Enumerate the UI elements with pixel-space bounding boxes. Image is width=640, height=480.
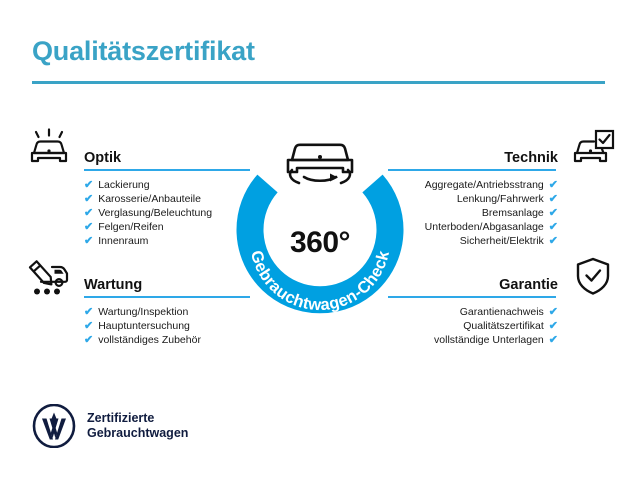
list-item-label: Lenkung/Fahrwerk — [457, 192, 544, 206]
list-item: ✔vollständiges Zubehör — [84, 333, 252, 347]
list-item-label: Aggregate/Antriebsstrang — [425, 178, 544, 192]
list-item-label: Lackierung — [98, 178, 149, 192]
section-optik: Optik ✔Lackierung ✔Karosserie/Anbauteile… — [22, 128, 252, 255]
section-garantie-header: Garantie — [388, 255, 618, 295]
list-item-label: vollständiges Zubehör — [98, 333, 201, 347]
section-technik-header: Technik — [388, 128, 618, 168]
car-service-pen-icon — [26, 255, 72, 297]
check-icon: ✔ — [84, 236, 93, 247]
list-item-label: Sicherheit/Elektrik — [460, 234, 544, 248]
volkswagen-logo — [32, 404, 76, 448]
section-garantie-list: ✔Garantienachweis ✔Qualitätszertifikat ✔… — [388, 298, 618, 347]
section-garantie: Garantie ✔Garantienachweis ✔Qualitätszer… — [388, 255, 618, 355]
list-item-label: Felgen/Reifen — [98, 220, 163, 234]
page-title: Qualitätszertifikat — [32, 36, 255, 67]
section-wartung-title: Wartung — [84, 277, 142, 293]
check-icon: ✔ — [84, 208, 93, 219]
title-divider — [32, 81, 605, 84]
check-icon: ✔ — [84, 321, 93, 332]
list-item-label: Karosserie/Anbauteile — [98, 192, 201, 206]
section-wartung-list: ✔Wartung/Inspektion ✔Hauptuntersuchung ✔… — [22, 298, 252, 347]
check-icon: ✔ — [84, 307, 93, 318]
section-optik-title: Optik — [84, 150, 121, 166]
list-item-label: Unterboden/Abgasanlage — [425, 220, 544, 234]
section-garantie-title: Garantie — [499, 277, 558, 293]
footer-text: Zertifizierte Gebrauchtwagen — [87, 411, 188, 441]
list-item-label: Qualitätszertifikat — [463, 319, 544, 333]
check-icon: ✔ — [549, 307, 558, 318]
right-column: Technik ✔Aggregate/Antriebsstrang ✔Lenku… — [388, 128, 618, 355]
list-item: ✔Qualitätszertifikat — [388, 319, 558, 333]
car-rotate-icon — [288, 145, 352, 183]
list-item-label: Verglasung/Beleuchtung — [98, 206, 212, 220]
shield-check-icon — [570, 255, 616, 297]
section-optik-header: Optik — [22, 128, 252, 168]
footer-line-2: Gebrauchtwagen — [87, 426, 188, 441]
section-wartung-header: Wartung — [22, 255, 252, 295]
list-item-label: vollständige Unterlagen — [434, 333, 544, 347]
car-shine-icon — [26, 128, 72, 170]
list-item: ✔vollständige Unterlagen — [388, 333, 558, 347]
check-icon: ✔ — [84, 335, 93, 346]
section-wartung: Wartung ✔Wartung/Inspektion ✔Hauptunters… — [22, 255, 252, 355]
check-icon: ✔ — [84, 180, 93, 191]
list-item: ✔Hauptuntersuchung — [84, 319, 252, 333]
section-technik: Technik ✔Aggregate/Antriebsstrang ✔Lenku… — [388, 128, 618, 255]
section-technik-title: Technik — [504, 150, 558, 166]
section-technik-list: ✔Aggregate/Antriebsstrang ✔Lenkung/Fahrw… — [388, 171, 618, 248]
left-column: Optik ✔Lackierung ✔Karosserie/Anbauteile… — [22, 128, 252, 355]
footer-line-1: Zertifizierte — [87, 411, 188, 426]
check-icon: ✔ — [549, 180, 558, 191]
gebrauchtwagen-check-badge: Gebrauchtwagen-Check 360° — [225, 122, 415, 318]
list-item-label: Garantienachweis — [460, 305, 544, 319]
car-checkbox-icon — [570, 128, 616, 170]
check-icon: ✔ — [549, 194, 558, 205]
list-item-label: Hauptuntersuchung — [98, 319, 190, 333]
badge-degrees-label: 360° — [225, 226, 415, 260]
list-item-label: Innenraum — [98, 234, 148, 248]
section-optik-list: ✔Lackierung ✔Karosserie/Anbauteile ✔Verg… — [22, 171, 252, 248]
list-item-label: Wartung/Inspektion — [98, 305, 188, 319]
check-icon: ✔ — [84, 222, 93, 233]
check-icon: ✔ — [549, 222, 558, 233]
check-icon: ✔ — [84, 194, 93, 205]
check-icon: ✔ — [549, 321, 558, 332]
check-icon: ✔ — [549, 208, 558, 219]
list-item-label: Bremsanlage — [482, 206, 544, 220]
check-icon: ✔ — [549, 335, 558, 346]
check-icon: ✔ — [549, 236, 558, 247]
footer: Zertifizierte Gebrauchtwagen — [32, 404, 188, 448]
